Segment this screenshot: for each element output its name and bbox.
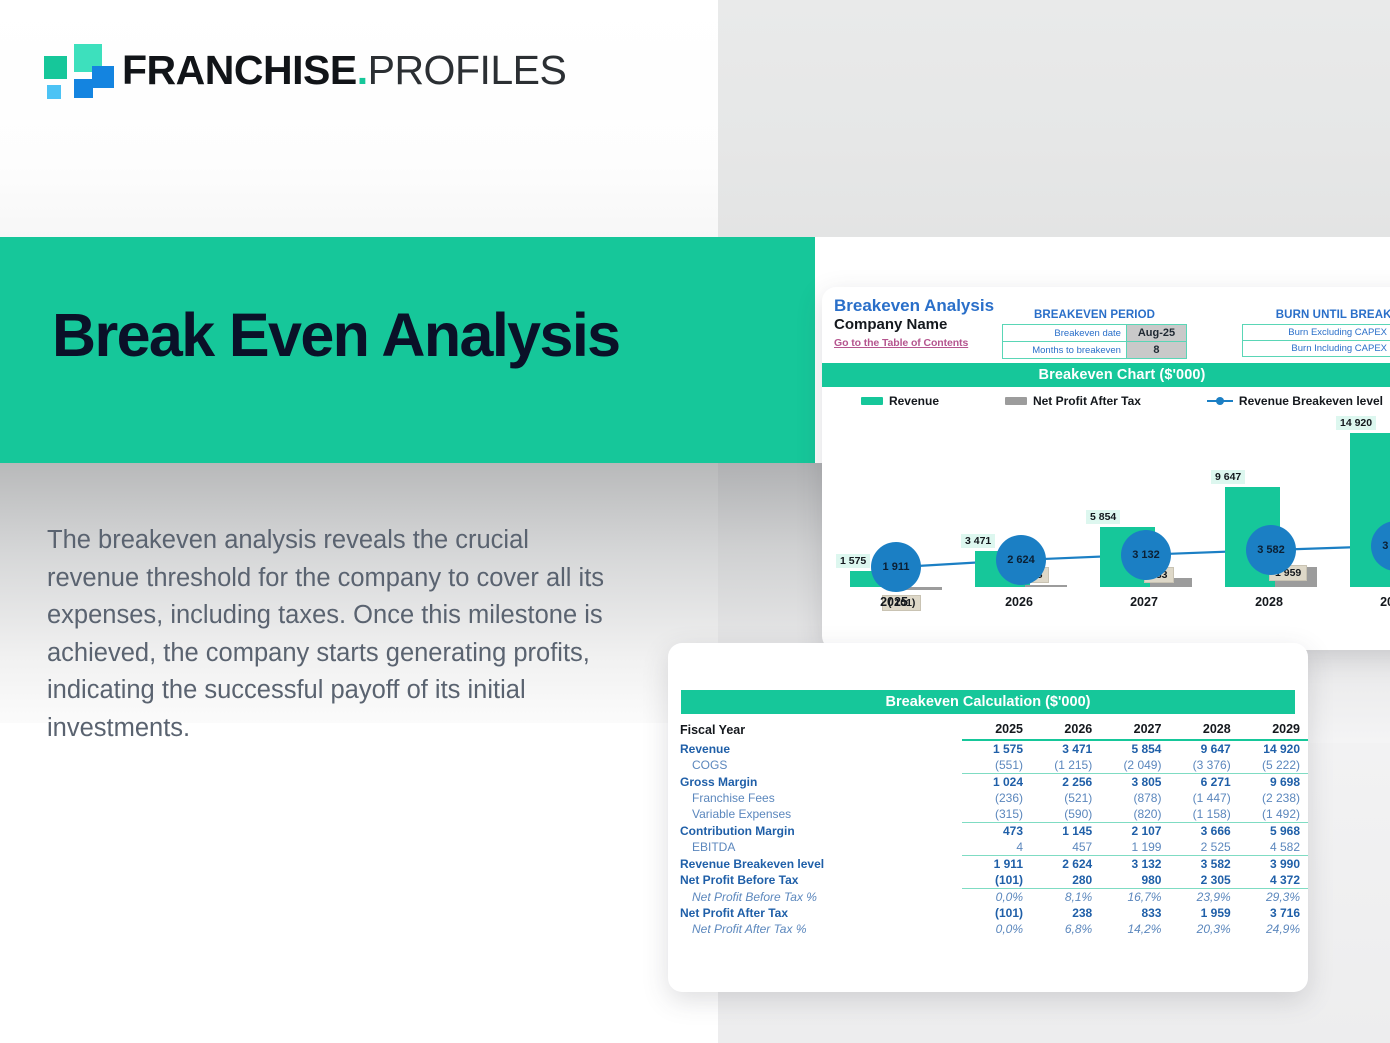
row-value: (5 222) <box>1239 757 1308 774</box>
row-value: 2 107 <box>1100 823 1169 840</box>
table-row: Burn Excluding CAPEX <box>1243 325 1390 341</box>
row-value: 2 256 <box>1031 774 1100 791</box>
row-label: Net Profit Before Tax % <box>668 889 962 906</box>
row-value: (2 049) <box>1100 757 1169 774</box>
row-label: EBITDA <box>668 839 962 856</box>
table-row: Months to breakeven 8 <box>1003 342 1187 359</box>
row-value: (1 215) <box>1031 757 1100 774</box>
legend-label-revenue: Revenue <box>889 394 939 408</box>
table-row: Contribution Margin4731 1452 1073 6665 9… <box>668 823 1308 840</box>
breakeven-level-node[interactable]: 3 582 <box>1246 525 1296 575</box>
burn-including-capex-label: Burn Including CAPEX <box>1243 341 1390 357</box>
row-label: Franchise Fees <box>668 790 962 806</box>
table-row: Revenue1 5753 4715 8549 64714 920 <box>668 740 1308 757</box>
row-value: 16,7% <box>1100 889 1169 906</box>
x-axis-tick-2029: 2029 <box>1334 595 1390 609</box>
row-value: 0,0% <box>962 921 1031 937</box>
net-profit-bar[interactable] <box>1025 585 1067 587</box>
logo-wordmark: FRANCHISE.PROFILES <box>122 50 566 91</box>
row-value: 14 920 <box>1239 740 1308 757</box>
row-label: Net Profit After Tax <box>668 905 962 921</box>
row-value: 1 911 <box>962 856 1031 873</box>
breakeven-date-label: Breakeven date <box>1003 325 1127 342</box>
table-row: Breakeven date Aug-25 <box>1003 325 1187 342</box>
table-row: Net Profit After Tax(101)2388331 9593 71… <box>668 905 1308 921</box>
x-axis-tick-2028: 2028 <box>1209 595 1329 609</box>
chart-x-axis: 20252026202720282029 <box>822 595 1390 619</box>
legend-swatch-npat-icon <box>1005 397 1027 405</box>
row-value: 2 525 <box>1169 839 1238 856</box>
x-axis-tick-2026: 2026 <box>959 595 1079 609</box>
legend-swatch-line-icon <box>1207 397 1233 405</box>
logo-word-profiles: PROFILES <box>368 47 567 93</box>
row-value: (1 492) <box>1239 806 1308 823</box>
breakeven-level-node[interactable]: 2 624 <box>996 535 1046 585</box>
row-label: Variable Expenses <box>668 806 962 823</box>
chart-legend: Revenue Net Profit After Tax Revenue Bre… <box>822 387 1390 412</box>
breakeven-period-heading: BREAKEVEN PERIOD <box>1002 309 1187 321</box>
row-value: 2 305 <box>1169 872 1238 889</box>
row-value: (236) <box>962 790 1031 806</box>
table-row: Gross Margin1 0242 2563 8056 2719 698 <box>668 774 1308 791</box>
row-value: (1 158) <box>1169 806 1238 823</box>
slide-canvas: FRANCHISE.PROFILES Break Even Analysis T… <box>0 0 1390 1043</box>
background-panel-bottom-left <box>0 723 718 1043</box>
burn-until-breakeven-heading: BURN UNTIL BREAKEVEN <box>1242 309 1390 321</box>
page-title: Break Even Analysis <box>52 305 620 366</box>
legend-item-revenue-breakeven-level[interactable]: Revenue Breakeven level <box>1207 394 1383 408</box>
burn-until-breakeven-table: Burn Excluding CAPEX Burn Including CAPE… <box>1242 324 1390 357</box>
table-row: Franchise Fees(236)(521)(878)(1 447)(2 2… <box>668 790 1308 806</box>
breakeven-plot: 1 575( 101)3 4712385 8548339 6471 95914 … <box>822 418 1390 623</box>
logo-square-blue-right <box>92 66 114 88</box>
row-value: (551) <box>962 757 1031 774</box>
breakeven-period-block: BREAKEVEN PERIOD Breakeven date Aug-25 M… <box>1002 309 1187 359</box>
legend-label-breakeven-level: Revenue Breakeven level <box>1239 394 1383 408</box>
logo-dot: . <box>357 47 368 93</box>
row-value: 1 024 <box>962 774 1031 791</box>
row-value: (101) <box>962 905 1031 921</box>
row-value: (3 376) <box>1169 757 1238 774</box>
row-value: 833 <box>1100 905 1169 921</box>
row-value: 3 132 <box>1100 856 1169 873</box>
row-value: 9 698 <box>1239 774 1308 791</box>
x-axis-tick-2025: 2025 <box>834 595 954 609</box>
fiscal-year-header: Fiscal Year <box>668 721 962 740</box>
legend-label-npat: Net Profit After Tax <box>1033 394 1141 408</box>
row-value: (1 447) <box>1169 790 1238 806</box>
logo-squares-icon <box>44 44 106 96</box>
row-value: 3 716 <box>1239 905 1308 921</box>
row-value: 473 <box>962 823 1031 840</box>
revenue-bar-label: 14 920 <box>1336 416 1376 430</box>
column-header-2028: 2028 <box>1169 721 1238 740</box>
row-value: 29,3% <box>1239 889 1308 906</box>
row-value: 9 647 <box>1169 740 1238 757</box>
row-value: 3 582 <box>1169 856 1238 873</box>
row-value: 8,1% <box>1031 889 1100 906</box>
table-row: Burn Including CAPEX <box>1243 341 1390 357</box>
table-row: EBITDA44571 1992 5254 582 <box>668 839 1308 856</box>
breakeven-chart-card: Breakeven Analysis Company Name Go to th… <box>822 287 1390 650</box>
row-value: (2 238) <box>1239 790 1308 806</box>
logo-word-franchise: FRANCHISE <box>122 47 357 93</box>
spreadsheet-header: Breakeven Analysis Company Name Go to th… <box>822 287 1390 363</box>
breakeven-calculation-table: Fiscal Year20252026202720282029Revenue1 … <box>668 721 1308 937</box>
row-value: 5 968 <box>1239 823 1308 840</box>
breakeven-period-table: Breakeven date Aug-25 Months to breakeve… <box>1002 324 1187 359</box>
table-row: Variable Expenses(315)(590)(820)(1 158)(… <box>668 806 1308 823</box>
burn-excluding-capex-label: Burn Excluding CAPEX <box>1243 325 1390 341</box>
row-value: 4 582 <box>1239 839 1308 856</box>
row-value: 1 959 <box>1169 905 1238 921</box>
table-row: COGS(551)(1 215)(2 049)(3 376)(5 222) <box>668 757 1308 774</box>
revenue-bar-label: 1 575 <box>836 554 870 568</box>
row-label: Net Profit After Tax % <box>668 921 962 937</box>
table-header-row: Fiscal Year20252026202720282029 <box>668 721 1308 740</box>
row-value: 3 666 <box>1169 823 1238 840</box>
row-value: (590) <box>1031 806 1100 823</box>
chart-band-title: Breakeven Chart ($'000) <box>822 363 1390 387</box>
breakeven-date-value: Aug-25 <box>1126 325 1186 342</box>
row-value: (315) <box>962 806 1031 823</box>
row-value: 3 990 <box>1239 856 1308 873</box>
x-axis-tick-2027: 2027 <box>1084 595 1204 609</box>
row-value: 280 <box>1031 872 1100 889</box>
row-value: 3 805 <box>1100 774 1169 791</box>
breakeven-level-node[interactable]: 1 911 <box>871 542 921 592</box>
row-label: Revenue Breakeven level <box>668 856 962 873</box>
months-to-breakeven-value: 8 <box>1126 342 1186 359</box>
row-value: 1 575 <box>962 740 1031 757</box>
breakeven-level-node[interactable]: 3 132 <box>1121 530 1171 580</box>
revenue-bar-label: 9 647 <box>1211 470 1245 484</box>
row-value: 14,2% <box>1100 921 1169 937</box>
row-value: 23,9% <box>1169 889 1238 906</box>
row-value: 20,3% <box>1169 921 1238 937</box>
table-row: Net Profit Before Tax(101)2809802 3054 3… <box>668 872 1308 889</box>
row-value: 24,9% <box>1239 921 1308 937</box>
row-value: 6,8% <box>1031 921 1100 937</box>
table-of-contents-link[interactable]: Go to the Table of Contents <box>834 337 968 349</box>
column-header-2026: 2026 <box>1031 721 1100 740</box>
background-panel-right-top <box>718 0 1390 237</box>
months-to-breakeven-label: Months to breakeven <box>1003 342 1127 359</box>
breakeven-calculation-card: Breakeven Calculation ($'000) Fiscal Yea… <box>668 643 1308 992</box>
hero-band: Break Even Analysis <box>0 237 815 463</box>
table-row: Revenue Breakeven level1 9112 6243 1323 … <box>668 856 1308 873</box>
row-label: Revenue <box>668 740 962 757</box>
logo-square-blue-lower <box>74 79 93 98</box>
logo-square-teal-left <box>44 56 67 79</box>
row-value: 2 624 <box>1031 856 1100 873</box>
revenue-bar-label: 5 854 <box>1086 510 1120 524</box>
row-value: (878) <box>1100 790 1169 806</box>
row-value: 4 <box>962 839 1031 856</box>
table-row: Net Profit Before Tax %0,0%8,1%16,7%23,9… <box>668 889 1308 906</box>
row-label: Net Profit Before Tax <box>668 872 962 889</box>
legend-item-net-profit-after-tax[interactable]: Net Profit After Tax <box>1005 394 1141 408</box>
row-value: 5 854 <box>1100 740 1169 757</box>
row-value: (820) <box>1100 806 1169 823</box>
legend-swatch-revenue-icon <box>861 397 883 405</box>
row-label: Contribution Margin <box>668 823 962 840</box>
row-label: Gross Margin <box>668 774 962 791</box>
row-value: (101) <box>962 872 1031 889</box>
brand-logo: FRANCHISE.PROFILES <box>44 44 566 96</box>
legend-item-revenue[interactable]: Revenue <box>861 394 939 408</box>
row-value: 238 <box>1031 905 1100 921</box>
background-panel-left-top <box>0 0 718 237</box>
row-value: 4 372 <box>1239 872 1308 889</box>
table-row: Net Profit After Tax %0,0%6,8%14,2%20,3%… <box>668 921 1308 937</box>
column-header-2029: 2029 <box>1239 721 1308 740</box>
row-value: 980 <box>1100 872 1169 889</box>
row-value: 1 199 <box>1100 839 1169 856</box>
revenue-bar-label: 3 471 <box>961 534 995 548</box>
row-value: 1 145 <box>1031 823 1100 840</box>
logo-square-lightblue-small <box>47 85 61 99</box>
row-value: 457 <box>1031 839 1100 856</box>
body-paragraph: The breakeven analysis reveals the cruci… <box>47 522 622 747</box>
table-band-title: Breakeven Calculation ($'000) <box>681 690 1295 714</box>
column-header-2025: 2025 <box>962 721 1031 740</box>
row-value: 3 471 <box>1031 740 1100 757</box>
column-header-2027: 2027 <box>1100 721 1169 740</box>
burn-until-breakeven-block: BURN UNTIL BREAKEVEN Burn Excluding CAPE… <box>1242 309 1390 357</box>
row-value: 0,0% <box>962 889 1031 906</box>
row-label: COGS <box>668 757 962 774</box>
row-value: (521) <box>1031 790 1100 806</box>
row-value: 6 271 <box>1169 774 1238 791</box>
